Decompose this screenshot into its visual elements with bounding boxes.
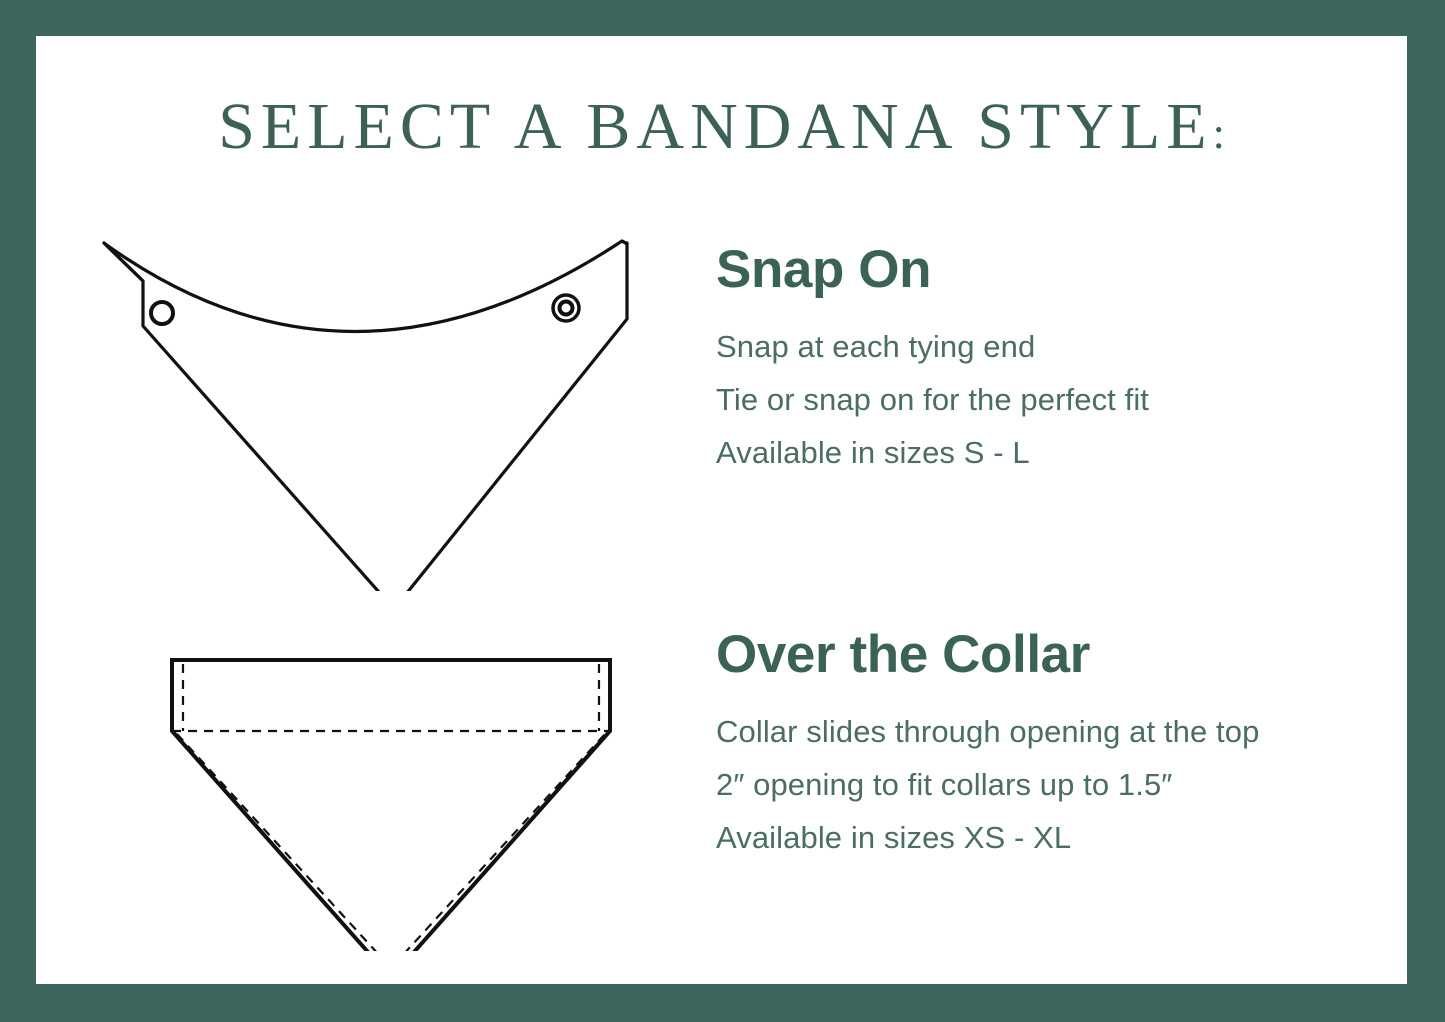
page-title-text: SELECT A BANDANA STYLE — [218, 90, 1212, 163]
inner-white-panel: SELECT A BANDANA STYLE: — [36, 36, 1407, 984]
concentric-ring-snap-inner-icon — [560, 302, 573, 315]
style-feature-line: Tie or snap on for the perfect fit — [716, 373, 1416, 426]
page-title-colon: : — [1213, 109, 1225, 158]
style-heading-snap-on: Snap On — [716, 241, 1416, 298]
snap-on-bandana-illustration — [50, 191, 670, 591]
concentric-ring-snap-outer-icon — [553, 295, 579, 321]
style-feature-line: Snap at each tying end — [716, 320, 1416, 373]
style-feature-line: Available in sizes XS - XL — [716, 811, 1416, 864]
snap-on-left-tail-edge — [104, 243, 143, 281]
style-heading-over-the-collar: Over the Collar — [716, 626, 1416, 683]
open-ring-snap-icon — [151, 302, 173, 324]
snap-on-bandana-outline — [104, 241, 627, 591]
style-feature-list-over-the-collar: Collar slides through opening at the top… — [716, 705, 1416, 864]
over-collar-bandana-outline — [172, 660, 610, 951]
style-feature-line: Available in sizes S - L — [716, 426, 1416, 479]
style-feature-list-snap-on: Snap at each tying end Tie or snap on fo… — [716, 320, 1416, 479]
infographic-page: SELECT A BANDANA STYLE: — [0, 0, 1445, 1022]
over-the-collar-bandana-illustration — [120, 606, 640, 951]
style-block-snap-on: Snap On Snap at each tying end Tie or sn… — [716, 241, 1416, 479]
style-block-over-the-collar: Over the Collar Collar slides through op… — [716, 626, 1416, 864]
page-title: SELECT A BANDANA STYLE: — [36, 94, 1407, 160]
style-feature-line: Collar slides through opening at the top — [716, 705, 1416, 758]
style-feature-line: 2″ opening to fit collars up to 1.5″ — [716, 758, 1416, 811]
